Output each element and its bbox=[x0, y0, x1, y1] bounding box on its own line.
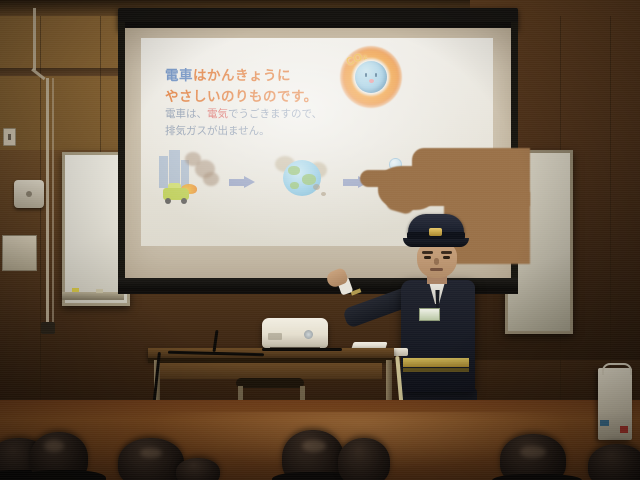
earth-eye bbox=[375, 73, 377, 77]
sad-earth-icon bbox=[355, 61, 387, 93]
audience-head bbox=[338, 438, 390, 480]
co2-earth-badge: CO₂ bbox=[340, 46, 402, 108]
hair-highlight bbox=[140, 448, 162, 458]
slide-body-keyword: 電気 bbox=[207, 108, 228, 120]
projector-vent bbox=[268, 333, 282, 340]
photo-scene: 電車はかんきょうに やさしいのりものです。 電車は、電気でうごきますので、 排気… bbox=[0, 0, 640, 480]
debris-fleck bbox=[321, 192, 326, 196]
wall-panel-seam bbox=[100, 16, 101, 166]
cable bbox=[262, 348, 342, 351]
uniform-belt bbox=[403, 358, 469, 367]
name-badge bbox=[419, 308, 440, 321]
wall-panel-seam bbox=[610, 16, 611, 406]
whiteboard-magnet bbox=[96, 289, 103, 293]
conduit-pipe bbox=[52, 78, 54, 328]
slide-flow-diagram bbox=[159, 150, 479, 216]
whiteboard-magnet bbox=[72, 288, 79, 292]
eye bbox=[443, 256, 450, 259]
eyebrow bbox=[441, 251, 452, 254]
slide-headline-keyword: 電車 bbox=[165, 68, 193, 83]
eye bbox=[424, 256, 431, 259]
flow-arrow-icon bbox=[229, 176, 255, 188]
hair-highlight bbox=[302, 440, 326, 452]
slide-headline-line1: 電車はかんきょうに bbox=[165, 64, 291, 84]
conduit-junction-box bbox=[41, 322, 55, 334]
landmass bbox=[290, 182, 299, 189]
slide-headline-line2: やさしいのりものです。 bbox=[165, 85, 318, 105]
eyebrow bbox=[422, 251, 433, 254]
hair-highlight bbox=[44, 440, 64, 452]
table-under-shelf bbox=[236, 378, 304, 388]
debris-fleck bbox=[313, 184, 320, 190]
audience-shoulders bbox=[492, 474, 582, 480]
earth-icon bbox=[283, 160, 321, 196]
audience-head bbox=[176, 458, 220, 480]
earth-face bbox=[364, 73, 378, 82]
arrow-head bbox=[244, 176, 255, 188]
landmass bbox=[288, 166, 300, 175]
presenter-face bbox=[417, 242, 457, 278]
audience-head bbox=[118, 438, 184, 480]
power-outlet bbox=[3, 128, 16, 146]
mouth bbox=[430, 268, 443, 271]
bag-label bbox=[620, 426, 628, 433]
bag-label bbox=[600, 420, 609, 426]
flow-arrow-icon bbox=[343, 176, 369, 188]
cap-badge-icon bbox=[429, 228, 442, 236]
paper-bag bbox=[598, 368, 632, 440]
conduit-pipe bbox=[33, 8, 36, 70]
earth-mouth bbox=[369, 79, 374, 83]
screen-left-edge bbox=[118, 22, 125, 290]
speech-bubble bbox=[413, 150, 432, 169]
diagram-step-electric-train bbox=[383, 150, 447, 210]
uniform-belt-shadow bbox=[403, 368, 469, 372]
bag-handle bbox=[602, 363, 632, 375]
arrow-head bbox=[358, 176, 369, 188]
car-wheel bbox=[165, 198, 171, 204]
earth-eye bbox=[365, 73, 367, 77]
speech-bubble bbox=[403, 180, 414, 191]
building-shape bbox=[159, 156, 168, 188]
cap-brim bbox=[403, 238, 469, 247]
hair-highlight bbox=[520, 446, 546, 458]
slide-body-line2: 排気ガスが出ません。 bbox=[165, 123, 270, 138]
slide-body-line1: 電車は、電気でうごきますので、 bbox=[165, 106, 322, 121]
wall-box bbox=[2, 235, 37, 271]
slide-headline-rest: はかんきょうに bbox=[193, 68, 291, 83]
nose bbox=[434, 258, 439, 265]
diagram-step-polluting-city bbox=[159, 150, 223, 210]
slide-body-b: でうごきますので、 bbox=[228, 108, 322, 120]
whiteboard-tray bbox=[62, 292, 124, 300]
screen-right-edge bbox=[511, 22, 518, 290]
speech-bubble bbox=[389, 158, 402, 171]
audience-head bbox=[588, 444, 640, 480]
smoke-puff bbox=[203, 172, 219, 186]
diagram-step-warming-earth bbox=[269, 150, 333, 210]
car-wheel bbox=[181, 198, 187, 204]
projector-lens bbox=[304, 330, 313, 339]
slide-body-a: 電車は、 bbox=[165, 108, 207, 120]
table-apron bbox=[160, 363, 382, 379]
projector-device bbox=[262, 318, 328, 348]
conduit-pipe bbox=[46, 78, 49, 328]
wall-speaker-icon bbox=[14, 180, 44, 208]
audience-shoulders bbox=[20, 470, 106, 480]
